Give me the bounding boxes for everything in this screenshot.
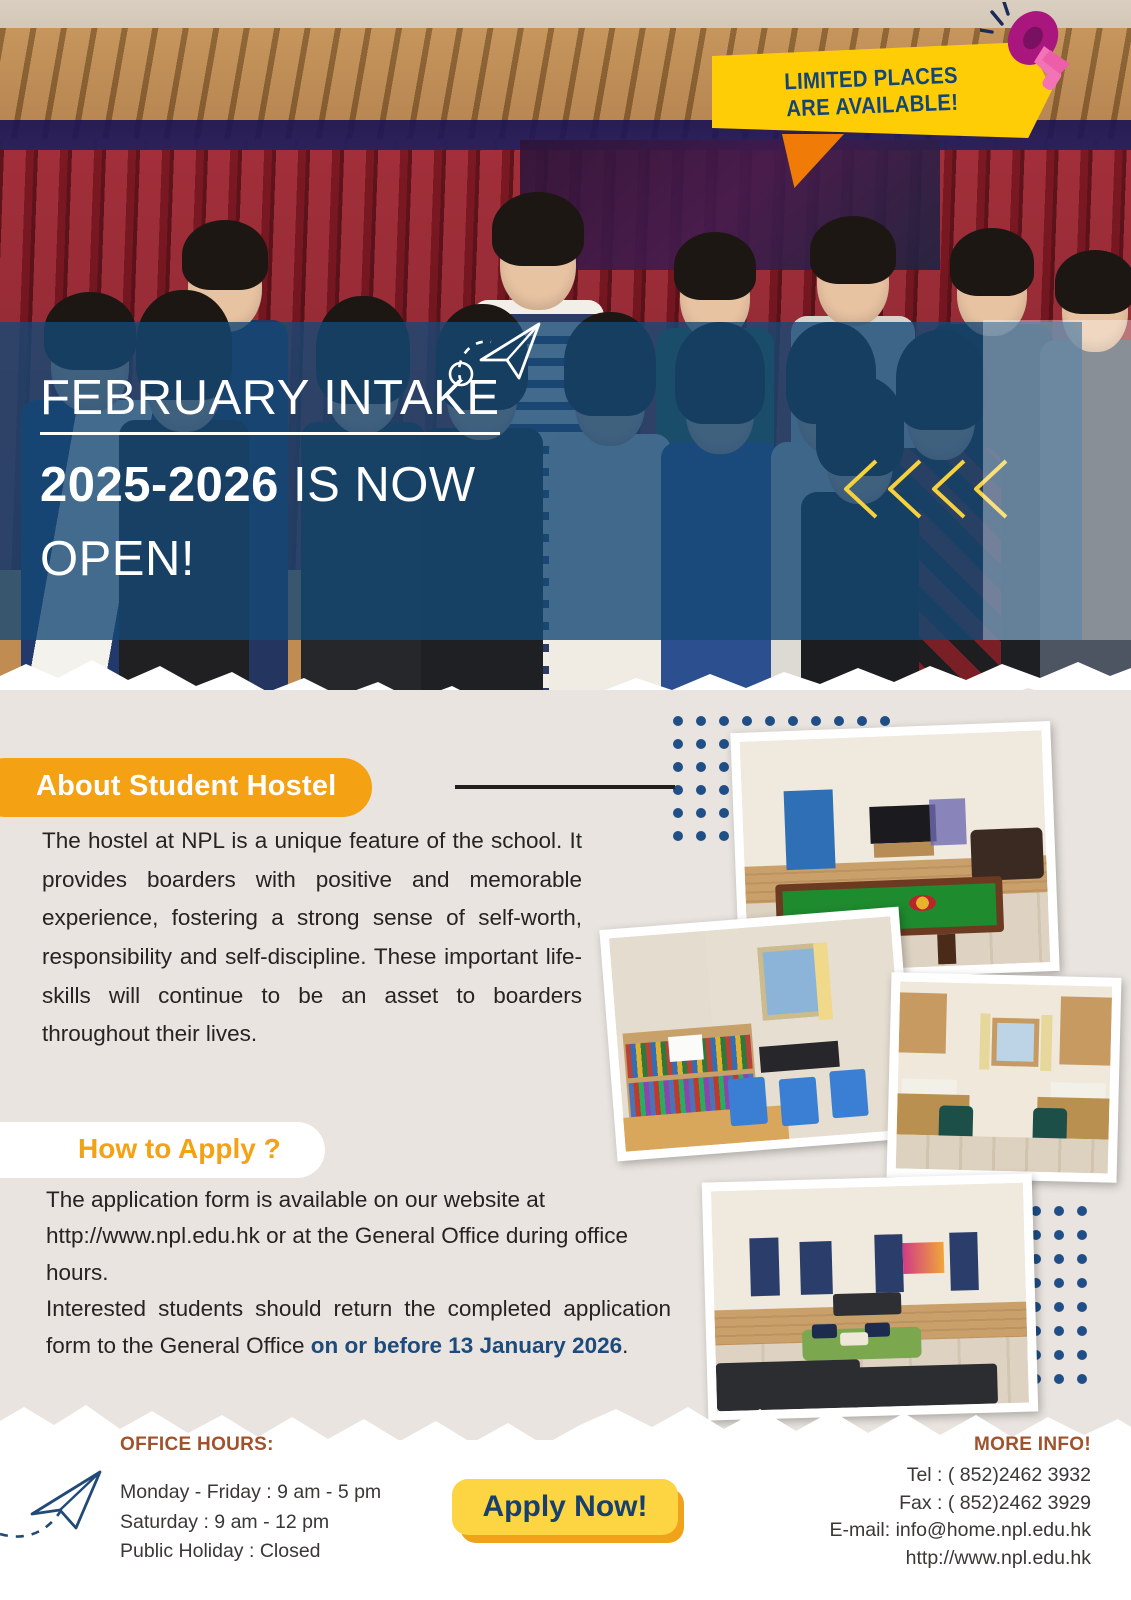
contact-email[interactable]: E-mail: info@home.npl.edu.hk [829, 1517, 1091, 1545]
contact-website[interactable]: http://www.npl.edu.hk [829, 1545, 1091, 1573]
more-info-title: MORE INFO! [974, 1434, 1091, 1456]
glass-overlay-panel [983, 320, 1131, 640]
banner-line-2: ARE AVAILABLE! [786, 89, 959, 122]
contact-list: Tel : ( 852)2462 3932 Fax : ( 852)2462 3… [829, 1462, 1091, 1573]
paper-plane-footer-icon [0, 1470, 120, 1550]
headline-block: FEBRUARY INTAKE 2025-2026 IS NOW OPEN! [40, 370, 660, 588]
megaphone-icon [980, 2, 1076, 98]
apply-button-label: Apply Now! [452, 1479, 678, 1535]
apply-section-heading: How to Apply ? [0, 1122, 325, 1178]
contact-tel: Tel : ( 852)2462 3932 [829, 1462, 1091, 1490]
about-section-heading: About Student Hostel [0, 758, 372, 817]
common-lounge-photo [702, 1173, 1039, 1420]
apply-deadline: on or before 13 January 2026 [311, 1333, 622, 1358]
office-hours-line: Saturday : 9 am - 12 pm [120, 1508, 381, 1538]
apply-paragraph-1: The application form is available on our… [46, 1182, 671, 1291]
headline-line-2: 2025-2026 IS NOW [40, 457, 660, 515]
office-hours-line: Public Holiday : Closed [120, 1537, 381, 1567]
office-hours-line: Monday - Friday : 9 am - 5 pm [120, 1478, 381, 1508]
headline-line-1: FEBRUARY INTAKE [40, 370, 500, 435]
dot-grid-decoration-bottom [1030, 1205, 1100, 1385]
apply-p2-after: . [622, 1333, 628, 1358]
limited-places-banner: LIMITED PLACES ARE AVAILABLE! [712, 42, 1064, 154]
apply-now-button[interactable]: Apply Now! [452, 1479, 684, 1541]
dormitory-room-photo [887, 972, 1122, 1183]
hostel-intake-poster: FEBRUARY INTAKE 2025-2026 IS NOW OPEN! L… [0, 0, 1131, 1600]
headline-line-2-rest: IS NOW [279, 458, 476, 512]
apply-section-body: The application form is available on our… [46, 1182, 671, 1364]
apply-paragraph-2: Interested students should return the co… [46, 1291, 671, 1364]
headline-years: 2025-2026 [40, 458, 279, 512]
office-hours-list: Monday - Friday : 9 am - 5 pm Saturday :… [120, 1478, 381, 1567]
about-divider-line [455, 785, 675, 789]
contact-fax: Fax : ( 852)2462 3929 [829, 1490, 1091, 1518]
study-library-photo [599, 907, 916, 1162]
about-section-body: The hostel at NPL is a unique feature of… [42, 822, 582, 1054]
office-hours-title: OFFICE HOURS: [120, 1434, 274, 1456]
headline-line-3: OPEN! [40, 531, 660, 589]
